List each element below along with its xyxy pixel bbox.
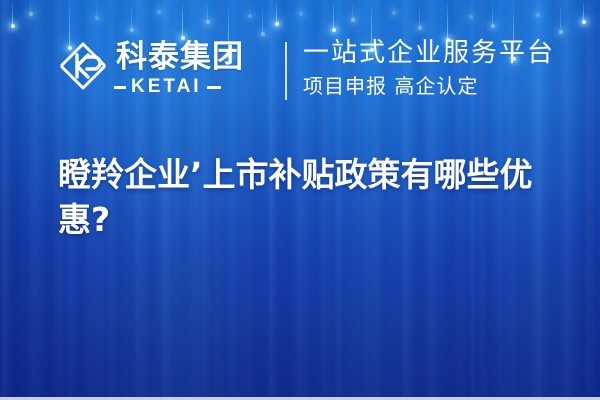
light-streak-icon [30, 0, 31, 14]
ketai-kp-diamond-logo-icon [58, 41, 108, 91]
logo-dash-right-icon [207, 86, 221, 89]
light-streak-icon [300, 0, 301, 14]
light-streak-icon [352, 0, 353, 20]
slogan-primary: 一站式企业服务平台 [303, 36, 583, 70]
promo-banner: 科泰集团 KETAI 一站式企业服务平台 项目申报 高企认定 瞪羚企业’上市补贴… [0, 0, 600, 400]
light-streak-icon [447, 0, 448, 40]
light-streak-icon [96, 0, 97, 18]
logo-company-name-en-wrap: KETAI [114, 77, 274, 97]
logo-company-name-en: KETAI [131, 77, 202, 97]
slogan-secondary: 项目申报 高企认定 [303, 71, 583, 101]
banner-headline: 瞪羚企业’上市补贴政策有哪些优惠? [58, 152, 568, 242]
light-streak-icon [182, 0, 183, 38]
light-streak-icon [262, 0, 263, 34]
light-streak-icon [276, 0, 277, 24]
light-streak-icon [560, 0, 561, 32]
light-streak-icon [583, 0, 584, 22]
brand-logo[interactable]: 科泰集团 KETAI [58, 38, 273, 106]
light-streak-icon [470, 0, 471, 17]
light-streak-icon [393, 0, 394, 13]
light-streak-icon [419, 0, 420, 28]
light-streak-icon [12, 0, 13, 26]
light-streak-icon [333, 0, 334, 30]
light-streak-icon [537, 0, 538, 15]
light-streak-icon [131, 0, 132, 30]
light-streak-icon [249, 0, 250, 16]
vertical-divider [285, 42, 287, 100]
banner-header: 科泰集团 KETAI 一站式企业服务平台 项目申报 高企认定 [0, 38, 600, 106]
logo-company-name-cn: 科泰集团 [116, 38, 244, 76]
light-streak-icon [158, 0, 159, 12]
logo-dash-left-icon [114, 86, 126, 89]
slogan-block: 一站式企业服务平台 项目申报 高企认定 [303, 36, 583, 101]
light-streak-icon [492, 0, 493, 26]
light-streak-icon [207, 0, 208, 22]
